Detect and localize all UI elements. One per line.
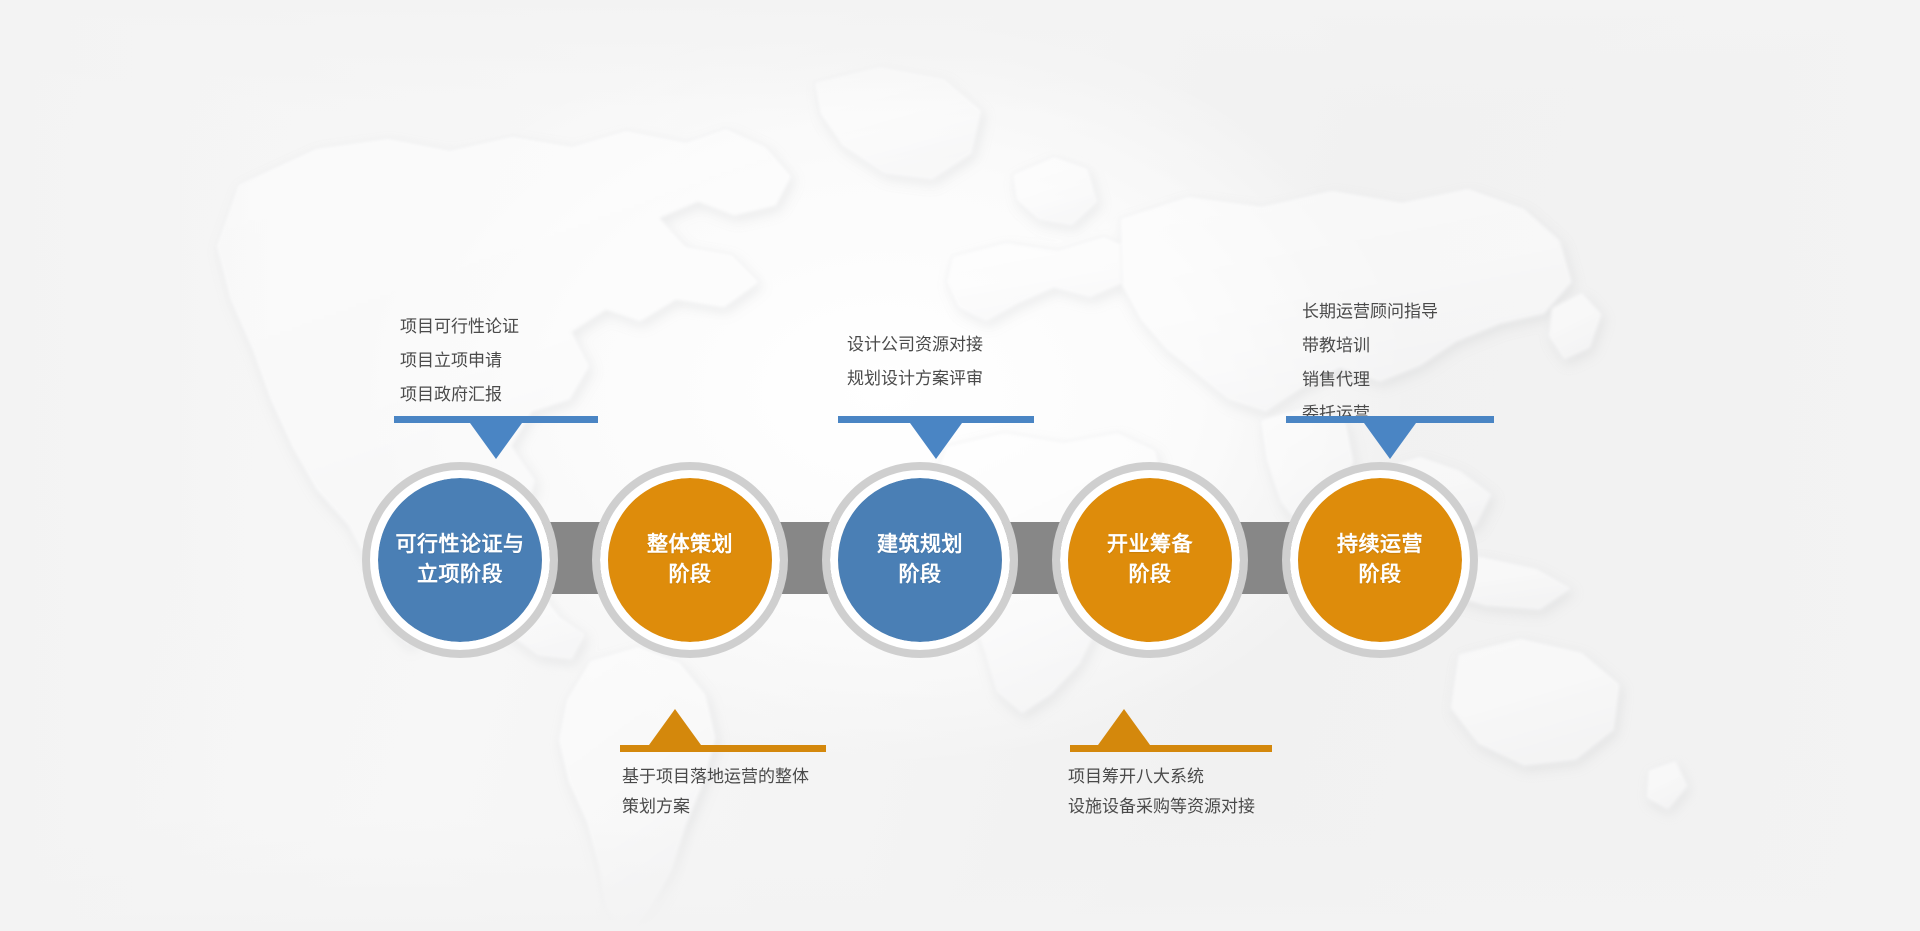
callout-line: 基于项目落地运营的整体 — [622, 762, 809, 792]
callout-line: 带教培训 — [1302, 329, 1438, 363]
callout-text-stage-2: 基于项目落地运营的整体 策划方案 — [622, 762, 809, 822]
marker-bar — [1286, 416, 1494, 423]
marker-bar — [838, 416, 1034, 423]
callout-marker-stage-1 — [394, 416, 598, 423]
stage-node-3[interactable]: 建筑规划 阶段 — [838, 478, 1002, 642]
callout-marker-stage-5 — [1286, 416, 1494, 423]
stage-label: 开业筹备 阶段 — [1107, 530, 1193, 590]
background-vignette — [0, 0, 1920, 931]
marker-bar — [620, 745, 826, 752]
callout-marker-stage-3 — [838, 416, 1034, 423]
callout-line: 长期运营顾问指导 — [1302, 295, 1438, 329]
stage-label: 整体策划 阶段 — [647, 530, 733, 590]
stage-node-1[interactable]: 可行性论证与 立项阶段 — [378, 478, 542, 642]
callout-line: 销售代理 — [1302, 363, 1438, 397]
callout-marker-stage-2 — [620, 708, 826, 752]
stage-label: 建筑规划 阶段 — [877, 530, 963, 590]
stage-label: 持续运营 阶段 — [1337, 530, 1423, 590]
callout-line: 项目立项申请 — [400, 344, 519, 378]
callout-text-stage-4: 项目筹开八大系统 设施设备采购等资源对接 — [1068, 762, 1255, 822]
stage-node-5[interactable]: 持续运营 阶段 — [1298, 478, 1462, 642]
marker-triangle-up-icon — [649, 709, 701, 745]
marker-bar — [394, 416, 598, 423]
diagram-canvas: 项目可行性论证 项目立项申请 项目政府汇报 设计公司资源对接 规划设计方案评审 … — [0, 0, 1920, 931]
marker-triangle-down-icon — [910, 423, 962, 459]
callout-marker-stage-4 — [1070, 708, 1272, 752]
callout-line: 策划方案 — [622, 792, 809, 822]
stage-label: 可行性论证与 立项阶段 — [396, 530, 525, 590]
marker-bar — [1070, 745, 1272, 752]
marker-triangle-down-icon — [470, 423, 522, 459]
callout-line: 规划设计方案评审 — [847, 362, 983, 396]
marker-triangle-up-icon — [1098, 709, 1150, 745]
callout-line: 项目政府汇报 — [400, 378, 519, 412]
callout-line: 项目可行性论证 — [400, 310, 519, 344]
stage-node-4[interactable]: 开业筹备 阶段 — [1068, 478, 1232, 642]
callout-text-stage-3: 设计公司资源对接 规划设计方案评审 — [847, 328, 983, 396]
stage-node-2[interactable]: 整体策划 阶段 — [608, 478, 772, 642]
callout-line: 项目筹开八大系统 — [1068, 762, 1255, 792]
marker-triangle-down-icon — [1364, 423, 1416, 459]
callout-text-stage-5: 长期运营顾问指导 带教培训 销售代理 委托运营 — [1302, 295, 1438, 431]
callout-text-stage-1: 项目可行性论证 项目立项申请 项目政府汇报 — [400, 310, 519, 412]
callout-line: 设施设备采购等资源对接 — [1068, 792, 1255, 822]
callout-line: 设计公司资源对接 — [847, 328, 983, 362]
